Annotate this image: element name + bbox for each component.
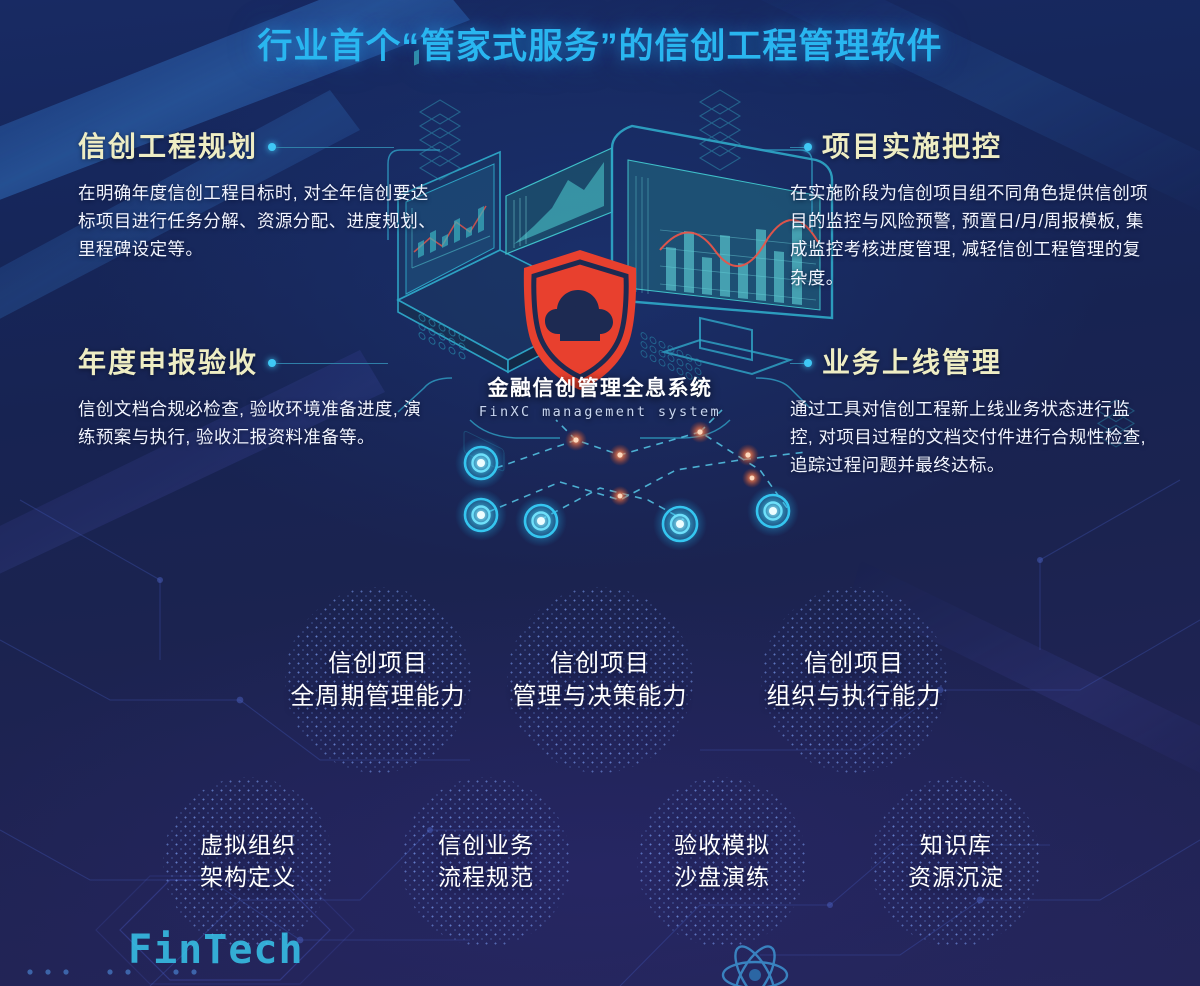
connector-bar bbox=[790, 363, 804, 364]
fintech-watermark: FinTech bbox=[128, 925, 338, 973]
capability-line-1: 信创项目 bbox=[513, 647, 688, 680]
feature-heading: 项目实施把控 bbox=[822, 132, 1002, 163]
capability-line-1: 信创项目 bbox=[767, 647, 942, 680]
capability-line-1: 验收模拟 bbox=[674, 830, 770, 862]
capability-line-1: 虚拟组织 bbox=[200, 830, 296, 862]
cyan-ring-nodes bbox=[455, 437, 799, 551]
orange-nodes bbox=[565, 421, 762, 506]
capability-line-1: 信创项目 bbox=[291, 647, 466, 680]
capability-label: 验收模拟 沙盘演练 bbox=[674, 830, 770, 893]
connector-lead-right bbox=[268, 349, 388, 377]
feature-block-annual-acceptance: 年度申报验收 信创文档合规必检查, 验收环境准备进度, 演练预案与执行, 验收汇… bbox=[78, 348, 438, 451]
connector-lead-right bbox=[268, 133, 394, 161]
feature-block-implementation: 项目实施把控 在实施阶段为信创项目组不同角色提供信创项目的监控与风险预警, 预置… bbox=[790, 132, 1150, 292]
capability-line-2: 资源沉淀 bbox=[908, 862, 1004, 894]
capability-circle[interactable]: 知识库 资源沉淀 bbox=[856, 762, 1056, 962]
feature-body: 在实施阶段为信创项目组不同角色提供信创项目的监控与风险预警, 预置日/月/周报模… bbox=[790, 179, 1150, 292]
connector-dot-icon bbox=[268, 359, 276, 367]
feature-block-planning: 信创工程规划 在明确年度信创工程目标时, 对全年信创要达标项目进行任务分解、资源… bbox=[78, 132, 438, 264]
capability-circle[interactable]: 信创项目 全周期管理能力 bbox=[278, 580, 478, 780]
capability-circle[interactable]: 信创项目 组织与执行能力 bbox=[754, 580, 954, 780]
feature-heading: 年度申报验收 bbox=[78, 348, 258, 379]
infographic-poster: 行业首个“管家式服务”的信创工程管理软件 信创工程规划 在明确年度信创工程目标时… bbox=[0, 0, 1200, 986]
capability-circle[interactable]: 信创业务 流程规范 bbox=[386, 762, 586, 962]
capability-line-1: 信创业务 bbox=[438, 830, 534, 862]
feature-block-business-launch: 业务上线管理 通过工具对信创工程新上线业务状态进行监控, 对项目过程的文档交付件… bbox=[790, 348, 1150, 480]
capability-label: 信创项目 管理与决策能力 bbox=[513, 647, 688, 713]
capability-label: 信创项目 全周期管理能力 bbox=[291, 647, 466, 713]
connector-lines bbox=[388, 150, 812, 438]
connector-lead-left bbox=[790, 349, 812, 377]
page-title: 行业首个“管家式服务”的信创工程管理软件 bbox=[0, 18, 1200, 69]
feature-body: 通过工具对信创工程新上线业务状态进行监控, 对项目过程的文档交付件进行合规性检查… bbox=[790, 395, 1150, 480]
fintech-text: FinTech bbox=[128, 927, 304, 973]
feature-heading: 业务上线管理 bbox=[822, 348, 1002, 379]
capability-label: 信创项目 组织与执行能力 bbox=[767, 647, 942, 713]
connector-bar bbox=[790, 147, 804, 148]
connector-dot-icon bbox=[268, 143, 276, 151]
feature-body: 在明确年度信创工程目标时, 对全年信创要达标项目进行任务分解、资源分配、进度规划… bbox=[78, 179, 438, 264]
capability-label: 信创业务 流程规范 bbox=[438, 830, 534, 893]
capability-line-2: 架构定义 bbox=[200, 862, 296, 894]
network-nodes bbox=[455, 410, 806, 551]
connector-lead-left bbox=[790, 133, 812, 161]
connector-bar bbox=[276, 147, 394, 148]
atom-icon bbox=[712, 932, 798, 986]
capability-label: 虚拟组织 架构定义 bbox=[200, 830, 296, 893]
capability-label: 知识库 资源沉淀 bbox=[908, 830, 1004, 893]
connector-dot-icon bbox=[804, 359, 812, 367]
floating-chart-panel bbox=[506, 148, 612, 254]
capability-circle[interactable]: 信创项目 管理与决策能力 bbox=[500, 580, 700, 780]
feature-heading: 信创工程规划 bbox=[78, 132, 258, 163]
capability-line-2: 沙盘演练 bbox=[674, 862, 770, 894]
connector-dot-icon bbox=[804, 143, 812, 151]
capability-line-2: 组织与执行能力 bbox=[767, 680, 942, 713]
connector-bar bbox=[276, 363, 388, 364]
feature-body: 信创文档合规必检查, 验收环境准备进度, 演练预案与执行, 验收汇报资料准备等。 bbox=[78, 395, 438, 452]
capability-line-2: 全周期管理能力 bbox=[291, 680, 466, 713]
capability-line-1: 知识库 bbox=[908, 830, 1004, 862]
shield-cloud-chart-icon bbox=[524, 250, 636, 390]
capability-line-2: 流程规范 bbox=[438, 862, 534, 894]
capability-line-2: 管理与决策能力 bbox=[513, 680, 688, 713]
